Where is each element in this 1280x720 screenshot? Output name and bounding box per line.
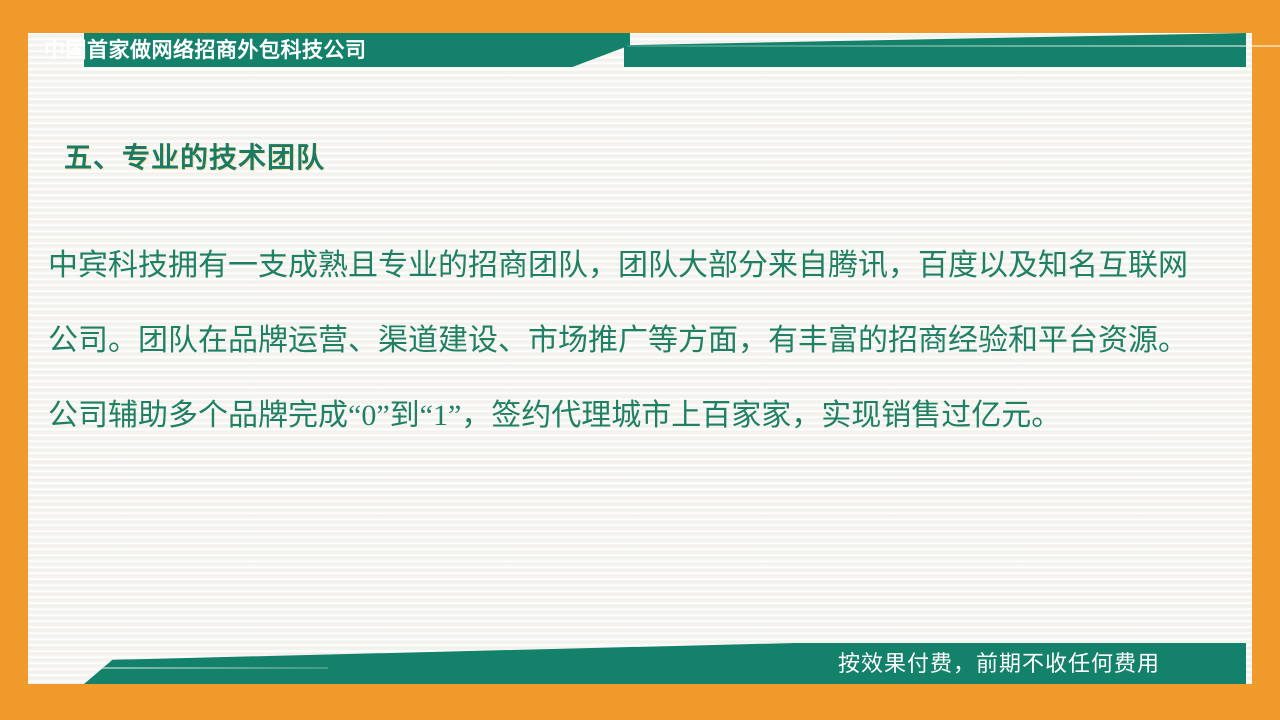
header-title: 中国首家做网络招商外包科技公司 (44, 34, 367, 68)
header-band-diagonal (550, 33, 630, 67)
footer-band-diagonal (84, 643, 796, 684)
footer-tagline: 按效果付费，前期不收任何费用 (766, 643, 1232, 684)
body-paragraph-block: 中宾科技拥有一支成熟且专业的招商团队，团队大部分来自腾讯，百度以及知名互联网公司… (48, 228, 1188, 453)
footer-hairline-divider (84, 667, 328, 669)
body-paragraph: 中宾科技拥有一支成熟且专业的招商团队，团队大部分来自腾讯，百度以及知名互联网公司… (48, 228, 1188, 453)
header-band-right-bar (624, 33, 1246, 67)
header-hairline-divider (627, 45, 1280, 47)
section-title: 五、专业的技术团队 (64, 136, 325, 176)
slide-canvas: 中国首家做网络招商外包科技公司 五、专业的技术团队 中宾科技拥有一支成熟且专业的… (0, 0, 1280, 720)
